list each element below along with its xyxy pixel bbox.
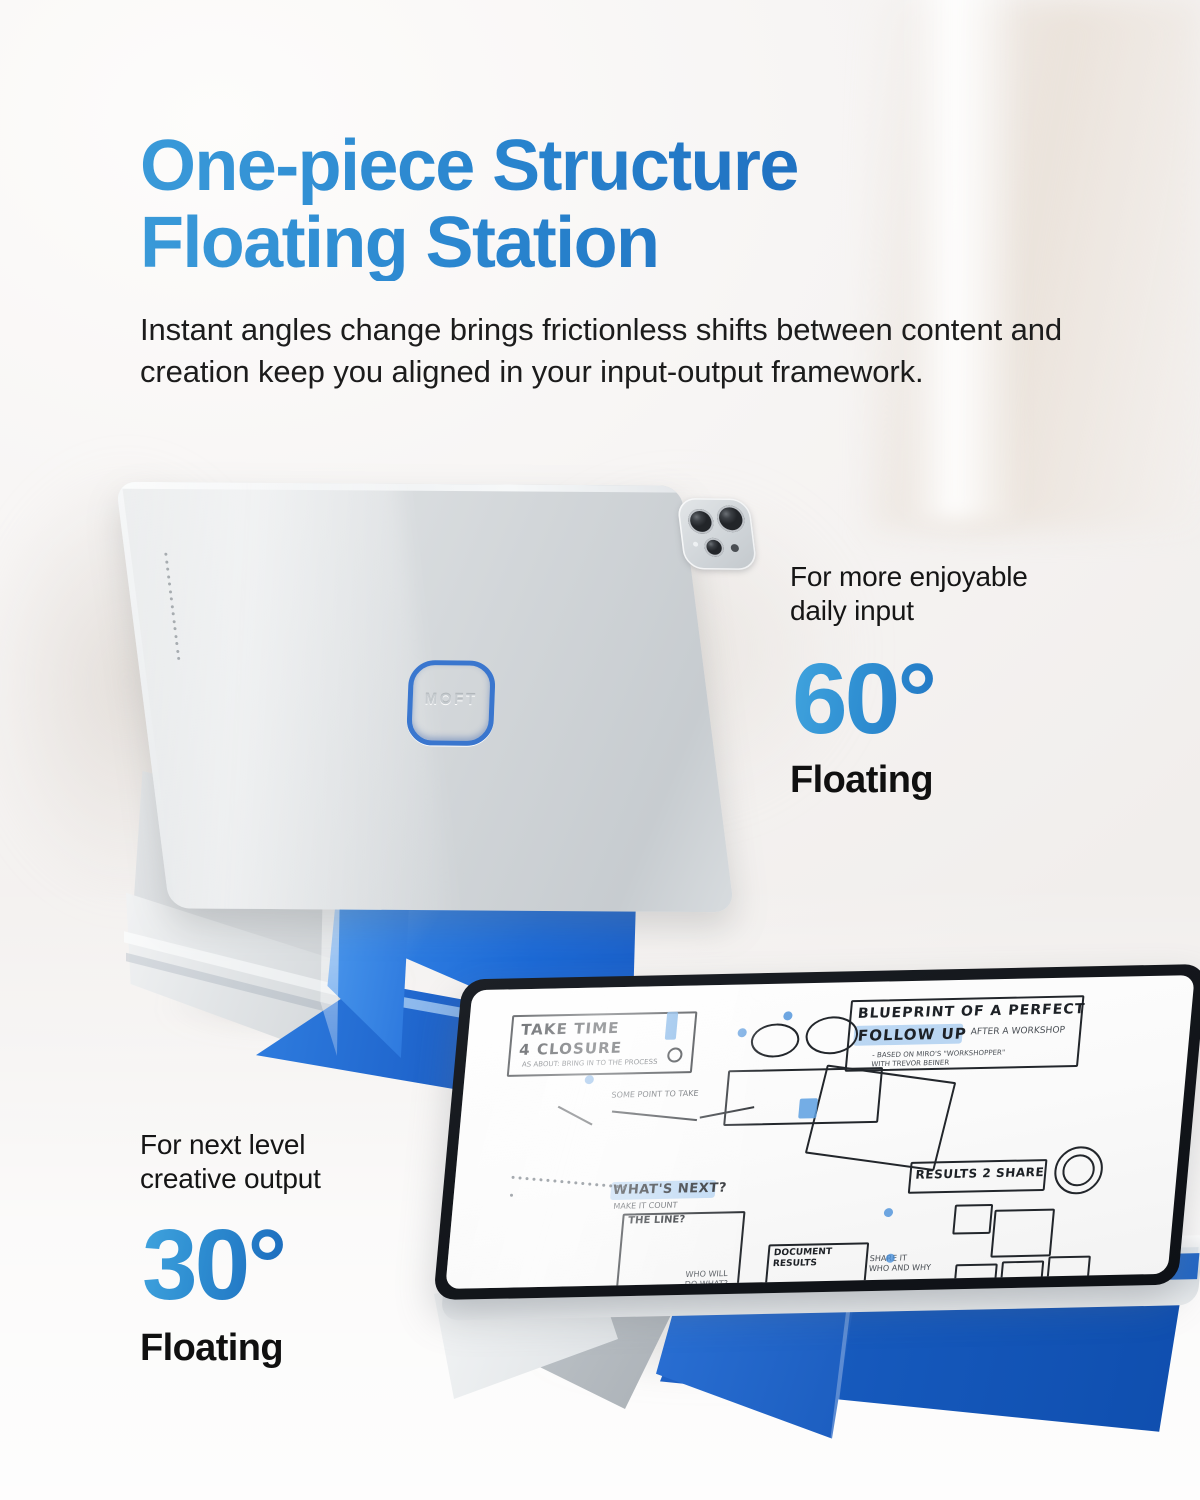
sketch-pen-chip (798, 1098, 818, 1118)
camera-flash-icon (730, 544, 739, 552)
sketch-card (895, 1286, 960, 1289)
camera-sensor-icon (693, 542, 699, 547)
sketch-device-box (805, 1064, 957, 1171)
camera-lens-icon (715, 505, 746, 532)
sketch-dot (737, 1028, 747, 1037)
rear-camera-module-icon (676, 498, 757, 570)
callout-30-lead: For next level creative output (140, 1128, 321, 1195)
sketch-note-7: SHARE IT WHO AND WHY (868, 1253, 932, 1273)
callout-60-mode: Floating (790, 759, 1028, 802)
callout-60-lead: For more enjoyable daily input (790, 560, 1028, 627)
callout-30-mode: Floating (140, 1327, 321, 1370)
sketch-note-2-sub: MAKE IT COUNT (613, 1201, 678, 1211)
sketch-note-6: WHO WILL DO WHAT? (684, 1269, 729, 1289)
page-title: One-piece Structure Floating Station (140, 128, 1020, 281)
sketch-dot (783, 1011, 793, 1020)
brand-wordmark: MOFT (407, 691, 494, 709)
sketch-title-highlight: FOLLOW UP (857, 1025, 968, 1045)
whiteboard-sketch: TAKE TIME 4 CLOSURE AS ABOUT: BRING IN T… (445, 975, 1195, 1289)
sketch-title-sub: AFTER A WORKSHOP (970, 1025, 1065, 1037)
callout-30-angle: 30° (142, 1215, 321, 1315)
sketch-note-1-line1: TAKE TIME (520, 1019, 620, 1039)
sketch-card (999, 1260, 1044, 1288)
tablet-screen[interactable]: TAKE TIME 4 CLOSURE AS ABOUT: BRING IN T… (445, 975, 1195, 1289)
sketch-bubble (749, 1023, 800, 1058)
sketch-card (953, 1263, 998, 1288)
marketing-banner: One-piece Structure Floating Station Ins… (0, 0, 1200, 1500)
lower-tablet-body: TAKE TIME 4 CLOSURE AS ABOUT: BRING IN T… (433, 964, 1200, 1300)
moft-brand-badge: MOFT (406, 660, 496, 746)
sketch-connector (612, 1111, 697, 1122)
sketch-card (990, 1209, 1055, 1258)
sketch-dot (584, 1075, 594, 1084)
sketch-note-3: THE LINE? (628, 1214, 686, 1226)
product-lower-30-degree: TAKE TIME 4 CLOSURE AS ABOUT: BRING IN T… (420, 955, 1200, 1475)
sketch-title-note: - BASED ON MIRO'S "WORKSHOPPER" WITH TRE… (871, 1049, 1006, 1069)
sketch-dot (884, 1208, 894, 1217)
camera-lens-icon (703, 538, 724, 557)
camera-lens-icon (687, 509, 715, 534)
page-subcopy: Instant angles change brings frictionles… (140, 309, 1070, 393)
callout-60-angle: 60° (792, 649, 1028, 749)
sketch-card (1046, 1256, 1091, 1289)
sketch-note-1-line2: 4 CLOSURE (518, 1039, 622, 1059)
sketch-note-4: RESULTS 2 SHARE (915, 1165, 1045, 1182)
sketch-note-5: DOCUMENT RESULTS (772, 1247, 832, 1271)
sketch-card (952, 1204, 993, 1235)
callout-60-degree: For more enjoyable daily input 60° Float… (790, 560, 1028, 802)
callout-30-degree: For next level creative output 30° Float… (140, 1128, 321, 1370)
sketch-misc-label: SOME POINT TO TAKE (611, 1089, 699, 1100)
sketch-connector (558, 1106, 593, 1126)
